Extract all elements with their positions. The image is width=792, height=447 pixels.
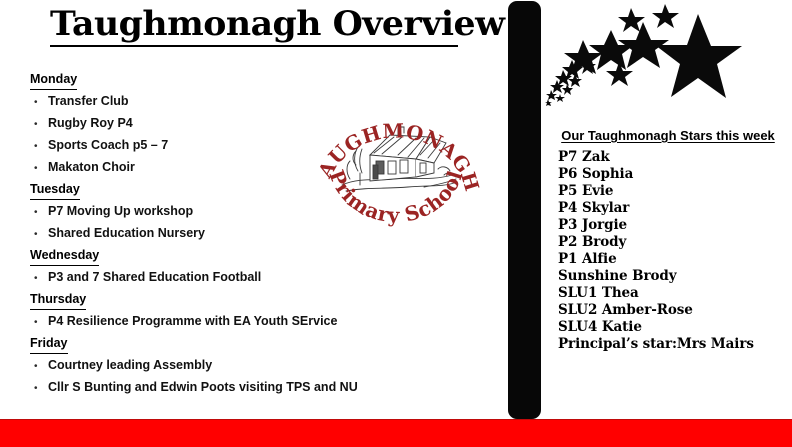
list-item-label: P7 Moving Up workshop bbox=[48, 201, 193, 221]
list-item-label: P4 Resilience Programme with EA Youth SE… bbox=[48, 311, 337, 331]
stars-of-the-week-panel: Our Taughmonagh Stars this week P7 Zak P… bbox=[548, 128, 788, 353]
footer-accent-band bbox=[0, 419, 792, 447]
list-item-label: P3 and 7 Shared Education Football bbox=[48, 267, 261, 287]
list-item-label: Shared Education Nursery bbox=[48, 223, 205, 243]
list-item: SLU4 Katie bbox=[548, 319, 788, 336]
bullet-icon: • bbox=[34, 203, 48, 223]
list-item-label: Transfer Club bbox=[48, 91, 129, 111]
list-item: P3 Jorgie bbox=[548, 217, 788, 234]
list-item-label: Rugby Roy P4 bbox=[48, 113, 133, 133]
bullet-icon: • bbox=[34, 225, 48, 245]
list-item: SLU1 Thea bbox=[548, 285, 788, 302]
list-item: • Courtney leading Assembly bbox=[30, 355, 450, 377]
bullet-icon: • bbox=[34, 115, 48, 135]
list-item: P2 Brody bbox=[548, 234, 788, 251]
list-item: P7 Zak bbox=[548, 149, 788, 166]
list-item: P6 Sophia bbox=[548, 166, 788, 183]
bullet-icon: • bbox=[34, 93, 48, 113]
bullet-icon: • bbox=[34, 379, 48, 399]
slide-canvas: Taughmonagh Overview Monday • Transfer C… bbox=[0, 0, 792, 446]
list-item: P5 Evie bbox=[548, 183, 788, 200]
bullet-icon: • bbox=[34, 313, 48, 333]
bullet-icon: • bbox=[34, 137, 48, 157]
vertical-divider-bar bbox=[508, 1, 541, 419]
list-item: • P3 and 7 Shared Education Football bbox=[30, 267, 450, 289]
day-block-friday: Friday • Courtney leading Assembly • Cll… bbox=[30, 334, 450, 399]
day-heading: Tuesday bbox=[30, 180, 80, 200]
day-heading: Thursday bbox=[30, 290, 86, 310]
shooting-stars-icon bbox=[545, 0, 745, 108]
list-item: • Cllr S Bunting and Edwin Poots visitin… bbox=[30, 377, 450, 399]
school-logo: TAUGHMONAGH Primary School bbox=[312, 103, 480, 237]
list-item-label: Makaton Choir bbox=[48, 157, 135, 177]
day-heading: Friday bbox=[30, 334, 68, 354]
day-block-wednesday: Wednesday • P3 and 7 Shared Education Fo… bbox=[30, 246, 450, 289]
page-title: Taughmonagh Overview bbox=[50, 4, 458, 47]
list-item: Sunshine Brody bbox=[548, 268, 788, 285]
list-item-label: Cllr S Bunting and Edwin Poots visiting … bbox=[48, 377, 358, 397]
bullet-icon: • bbox=[34, 357, 48, 377]
list-item: SLU2 Amber-Rose bbox=[548, 302, 788, 319]
list-item-label: Courtney leading Assembly bbox=[48, 355, 212, 375]
list-item-label: Sports Coach p5 – 7 bbox=[48, 135, 168, 155]
bullet-icon: • bbox=[34, 159, 48, 179]
stars-panel-heading: Our Taughmonagh Stars this week bbox=[548, 128, 788, 144]
list-item: • P4 Resilience Programme with EA Youth … bbox=[30, 311, 450, 333]
bullet-icon: • bbox=[34, 269, 48, 289]
list-item: Principal’s star:Mrs Mairs bbox=[548, 336, 788, 353]
list-item: P1 Alfie bbox=[548, 251, 788, 268]
day-block-thursday: Thursday • P4 Resilience Programme with … bbox=[30, 290, 450, 333]
list-item: P4 Skylar bbox=[548, 200, 788, 217]
day-heading: Monday bbox=[30, 70, 77, 90]
day-heading: Wednesday bbox=[30, 246, 99, 266]
